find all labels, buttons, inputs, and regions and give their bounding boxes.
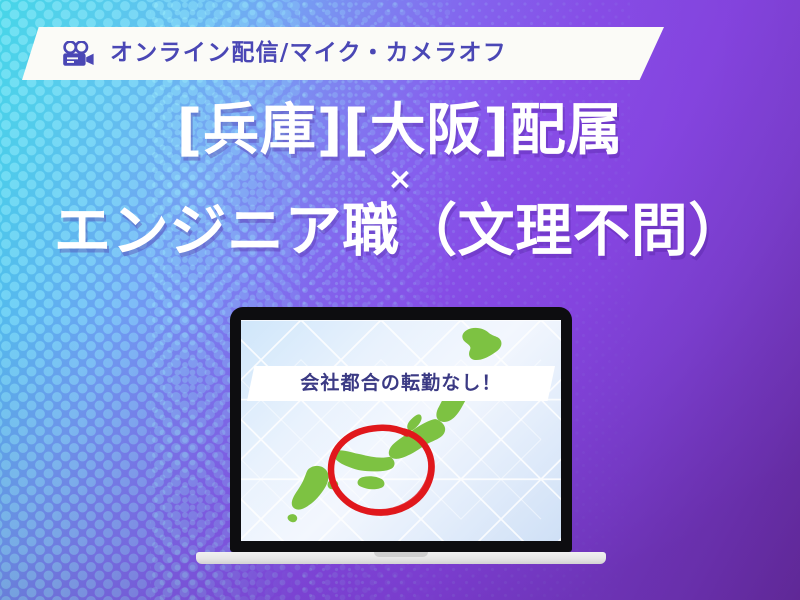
- headline-separator: ×: [0, 161, 800, 199]
- video-camera-icon: [62, 41, 96, 67]
- headline-line-1: [兵庫][大阪]配属: [0, 100, 800, 163]
- top-banner-label: オンライン配信/マイク・カメラオフ: [110, 42, 507, 65]
- headline-block: [兵庫][大阪]配属 × エンジニア職（文理不問）: [0, 100, 800, 263]
- laptop-illustration: 会社都合の転勤なし！: [196, 307, 606, 582]
- laptop-trackpad-notch: [374, 552, 428, 557]
- laptop-screen: 会社都合の転勤なし！: [241, 320, 561, 541]
- top-banner: オンライン配信/マイク・カメラオフ: [22, 27, 664, 80]
- screen-banner: 会社都合の転勤なし！: [247, 366, 555, 401]
- screen-banner-label: 会社都合の転勤なし！: [300, 374, 501, 393]
- laptop-lid: 会社都合の転勤なし！: [230, 307, 572, 552]
- headline-line-2: エンジニア職（文理不問）: [0, 200, 800, 263]
- japan-map: [241, 320, 561, 541]
- promo-graphic: オンライン配信/マイク・カメラオフ [兵庫][大阪]配属 × エンジニア職（文理…: [0, 0, 800, 600]
